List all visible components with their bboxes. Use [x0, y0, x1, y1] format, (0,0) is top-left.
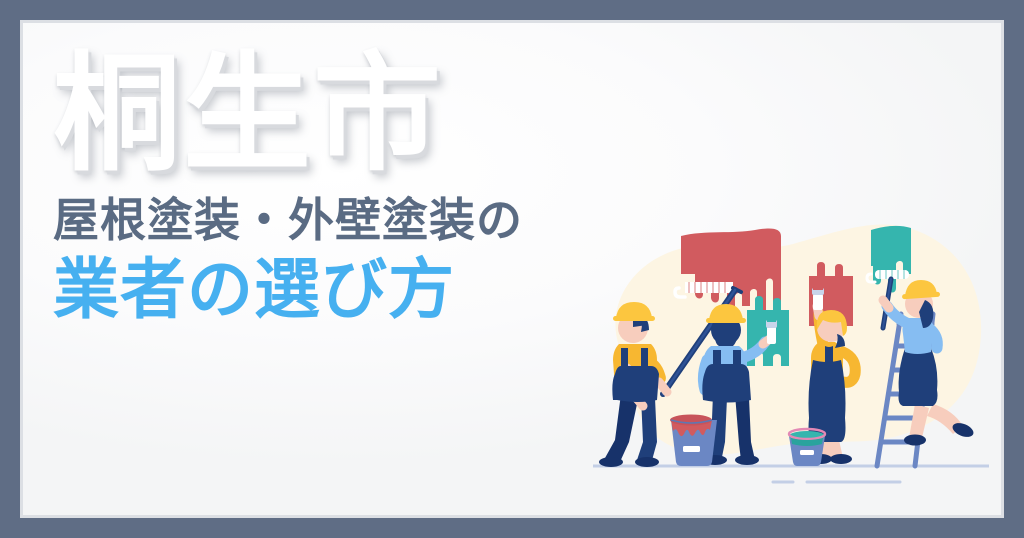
paint-brush — [766, 312, 777, 344]
paint-brush-raised — [812, 280, 824, 310]
paint-bucket-teal — [789, 429, 825, 466]
banner-canvas: 桐生市 屋根塗装・外壁塗装の 業者の選び方 — [23, 23, 1001, 515]
banner-frame: 桐生市 屋根塗装・外壁塗装の 業者の選び方 — [0, 0, 1024, 538]
subtitle: 屋根塗装・外壁塗装の — [53, 195, 643, 247]
page-title: 桐生市 — [53, 51, 643, 179]
paint-bucket-red — [670, 415, 717, 467]
text-block: 桐生市 屋根塗装・外壁塗装の 業者の選び方 — [53, 51, 643, 325]
headline: 業者の選び方 — [53, 253, 643, 326]
painters-illustration — [585, 208, 1001, 508]
